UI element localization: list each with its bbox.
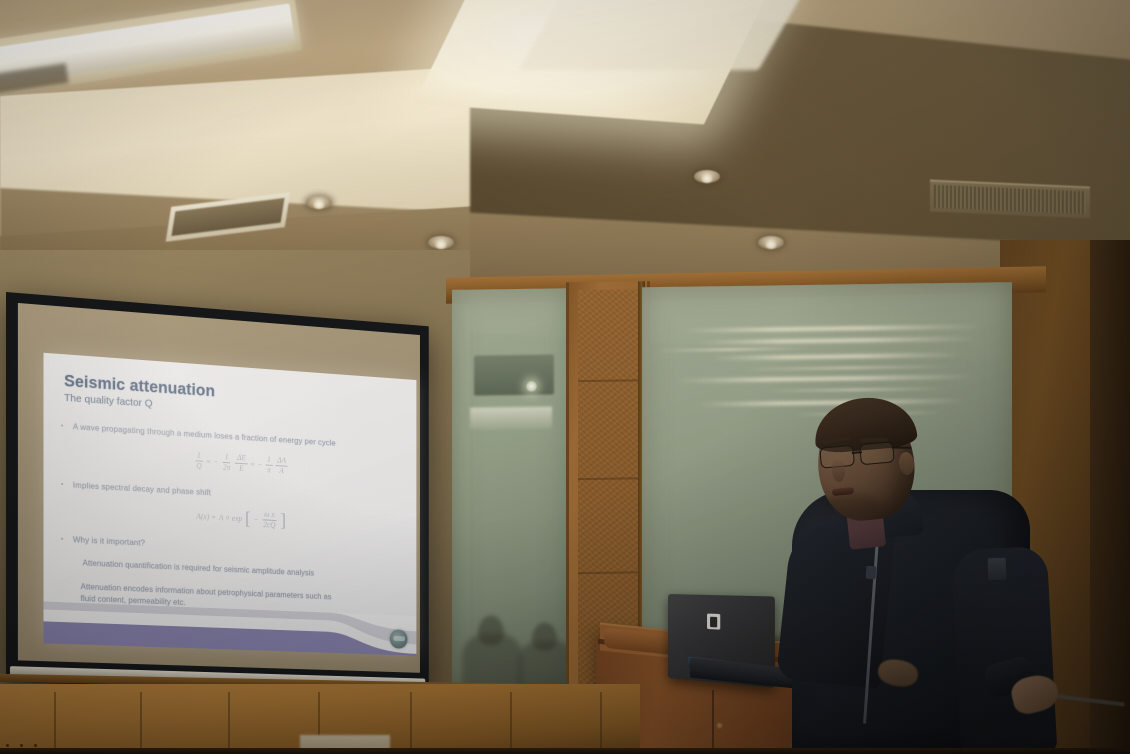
floor-strip <box>0 748 1130 754</box>
formula1-rel-1: ≈ <box>206 457 210 466</box>
ceiling-reflection <box>470 407 552 430</box>
formula1-term2b: ΔA A <box>275 456 287 475</box>
podium-seam <box>712 690 714 754</box>
audience-silhouette-head <box>478 615 504 645</box>
bullet-dot-icon <box>61 483 63 486</box>
wall-panel-seam <box>140 692 142 754</box>
downlight-icon-3 <box>694 170 720 183</box>
formula2-lhs: A(x) = <box>196 512 216 522</box>
eyeglass-lens-right <box>859 441 895 465</box>
ceiling-projector-icon <box>474 354 554 395</box>
laptop-brand-logo-icon <box>707 613 720 629</box>
presentation-slide: Seismic attenuation The quality factor Q… <box>44 353 417 656</box>
jacket-zipper-pull-icon <box>866 566 877 580</box>
formula2-bracket-close: ] <box>280 513 286 528</box>
formula1-rel-2: ≈ <box>251 460 255 469</box>
glass-panel-left <box>452 288 570 690</box>
downlight-icon-1 <box>306 196 332 209</box>
formula1-sign-2: − <box>257 460 262 469</box>
bullet-text: Implies spectral decay and phase shift <box>73 481 211 497</box>
podium-knob-icon <box>716 722 723 729</box>
formula2-bracket-open: [ <box>245 512 251 527</box>
jacket-sleeve-patch <box>988 558 1007 581</box>
projection-screen: Seismic attenuation The quality factor Q… <box>6 292 429 694</box>
wall-panel-seam <box>510 692 512 754</box>
downlight-icon-4 <box>758 236 784 249</box>
formula1-lhs: 1 Q <box>194 451 203 470</box>
bullet-text: Why is it important? <box>73 535 145 547</box>
formula1-term2a: 1 π <box>265 456 272 475</box>
bullet-dot-icon <box>61 538 63 540</box>
wall-far-right <box>1090 240 1130 754</box>
formula2-exp: exp <box>232 514 242 523</box>
organization-logo <box>390 629 408 649</box>
wall-panel-seam <box>410 692 412 754</box>
formula1-sign-1: − <box>213 457 218 466</box>
photograph-scene: Seismic attenuation The quality factor Q… <box>0 0 1130 754</box>
bullet-text: A wave propagating through a medium lose… <box>73 422 336 447</box>
formula2-amp-sub: 0 <box>226 515 229 521</box>
screen-surface: Seismic attenuation The quality factor Q… <box>18 303 420 673</box>
slide-formula-1: 1 Q ≈ − 1 2π ΔE E ≈ <box>73 444 402 482</box>
formula2-sign: − <box>254 515 259 524</box>
downlight-icon-2 <box>428 236 454 249</box>
wall-panel-seam <box>600 692 602 754</box>
formula2-fraction: ω x 2cQ <box>261 511 277 530</box>
formula1-term1a: 1 2π <box>221 453 232 472</box>
slide-body: A wave propagating through a medium lose… <box>73 422 402 617</box>
slide-bullet-3: Why is it important? <box>73 535 402 559</box>
formula2-amp: A <box>219 513 224 522</box>
bullet-dot-icon <box>61 425 63 428</box>
wall-panel-seam <box>228 692 230 754</box>
audience-silhouette-head <box>532 622 557 650</box>
slide-note-1: Attenuation quantification is required f… <box>83 557 403 583</box>
formula1-term1b: ΔE E <box>235 454 248 473</box>
slide-formula-2: A(x) = A 0 exp [ − ω x 2cQ ] <box>73 501 402 536</box>
presenter-chin-shadow <box>822 494 880 518</box>
presenter <box>760 398 1060 754</box>
wall-panel-seam <box>54 692 56 754</box>
eyeglass-temple <box>892 446 912 448</box>
